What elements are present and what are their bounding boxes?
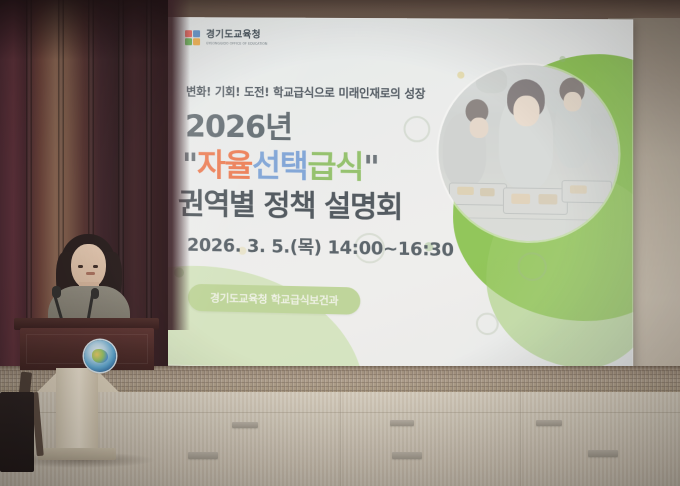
decor-ring [476,312,499,335]
decor-ring [403,116,430,143]
dark-object-left [0,392,34,472]
logo-name-english: GYEONGGIDO OFFICE OF EDUCATION [206,42,267,46]
podium-base [38,448,116,460]
title-part-meal: 급식 [307,149,363,186]
podium-column [56,368,98,452]
presentation-slide: 경기도교육청 GYEONGGIDO OFFICE OF EDUCATION 변화… [152,17,633,378]
school-emblem-icon [84,340,116,372]
title-part-autonomy: 자율 [197,148,252,185]
screenshot-root: 경기도교육청 GYEONGGIDO OFFICE OF EDUCATION 변화… [0,0,680,486]
slide-main-title: 권역별 정책 설명회 [178,180,402,226]
microphone-icon-secondary [91,288,99,299]
slide-subtitle: 변화! 기회! 도전! 학교급식으로 미래인재로의 성장 [186,83,425,101]
logo-name-korean: 경기도교육청 [206,30,267,40]
decor-dot-green [559,56,565,62]
cafeteria-photo [439,64,619,242]
gyeonggi-education-logo: 경기도교육청 GYEONGGIDO OFFICE OF EDUCATION [185,30,267,48]
decor-ring [518,252,547,281]
slide-department-badge: 경기도교육청 학교급식보건과 [188,284,361,315]
projector-screen: 경기도교육청 GYEONGGIDO OFFICE OF EDUCATION 변화… [152,17,633,378]
slide-datetime: 2026. 3. 5.(목) 14:00~16:30 [187,232,454,262]
title-part-choice: 선택 [252,148,307,185]
microphone-icon [52,286,61,298]
close-quote: " [363,150,378,187]
